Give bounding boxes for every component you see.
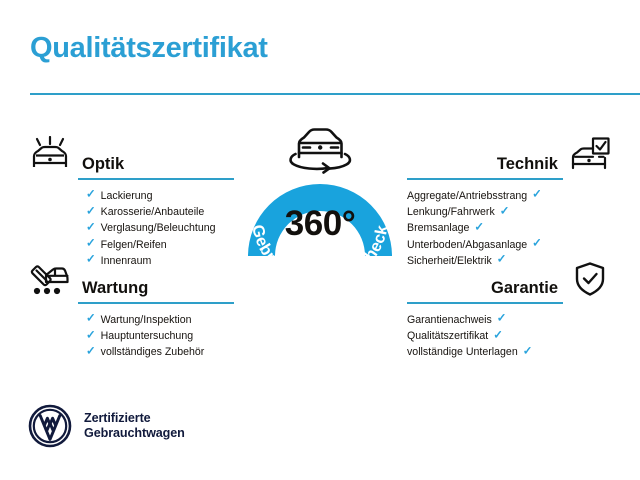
list-item: ✓ Wartung/Inspektion bbox=[86, 312, 233, 328]
check-icon: ✓ bbox=[86, 314, 96, 326]
list-item: ✓ Qualitätszertifikat bbox=[407, 328, 562, 344]
vw-logo-icon bbox=[28, 404, 72, 448]
section-wartung-title: Wartung bbox=[82, 280, 148, 299]
list-item-label: Hauptuntersuchung bbox=[101, 328, 193, 344]
check-icon: ✓ bbox=[86, 190, 96, 202]
check-icon: ✓ bbox=[474, 222, 484, 234]
list-item: ✓ vollständige Unterlagen bbox=[407, 344, 562, 360]
section-optik: Optik ✓ Lackierung ✓ Karosserie/Anbautei… bbox=[28, 134, 233, 269]
section-garantie-title: Garantie bbox=[491, 280, 558, 299]
section-wartung-list: ✓ Wartung/Inspektion ✓ Hauptuntersuchung… bbox=[86, 312, 233, 361]
section-technik-divider bbox=[407, 178, 563, 180]
list-item-label: Garantienachweis bbox=[407, 312, 492, 328]
section-technik: Technik bbox=[407, 134, 612, 269]
check-icon: ✓ bbox=[493, 330, 503, 342]
footer-text: Zertifizierte Gebrauchtwagen bbox=[84, 411, 185, 442]
footer-line1: Zertifizierte bbox=[84, 411, 151, 425]
check-icon: ✓ bbox=[497, 314, 507, 326]
list-item-label: Lenkung/Fahrwerk bbox=[407, 204, 495, 220]
list-item: ✓ Lenkung/Fahrwerk bbox=[407, 204, 562, 220]
list-item: ✓ Aggregate/Antriebsstrang bbox=[407, 188, 562, 204]
badge-360-gebrauchtwagen-check: Gebrauchtwagen-Check 360° bbox=[226, 116, 414, 316]
list-item-label: vollständiges Zubehör bbox=[101, 344, 205, 360]
check-icon: ✓ bbox=[86, 222, 96, 234]
section-optik-header: Optik bbox=[28, 134, 233, 174]
list-item: ✓ Lackierung bbox=[86, 188, 233, 204]
list-item-label: Bremsanlage bbox=[407, 220, 469, 236]
check-icon: ✓ bbox=[532, 190, 542, 202]
header-divider bbox=[30, 93, 640, 95]
footer-line2: Gebrauchtwagen bbox=[84, 426, 185, 440]
car-wrench-icon bbox=[28, 260, 72, 298]
list-item: ✓ Garantienachweis bbox=[407, 312, 562, 328]
section-technik-header: Technik bbox=[407, 134, 612, 174]
section-garantie-list: ✓ Garantienachweis ✓ Qualitätszertifikat… bbox=[407, 312, 562, 361]
list-item-label: Lackierung bbox=[101, 188, 153, 204]
check-icon: ✓ bbox=[532, 238, 542, 250]
check-icon: ✓ bbox=[86, 206, 96, 218]
section-optik-divider bbox=[78, 178, 234, 180]
section-wartung-header: Wartung bbox=[28, 258, 233, 298]
list-item: ✓ vollständiges Zubehör bbox=[86, 344, 233, 360]
page-title: Qualitätszertifikat bbox=[30, 32, 268, 65]
section-optik-list: ✓ Lackierung ✓ Karosserie/Anbauteile ✓ V… bbox=[86, 188, 233, 269]
list-item: ✓ Unterboden/Abgasanlage bbox=[407, 237, 562, 253]
list-item-label: vollständige Unterlagen bbox=[407, 344, 518, 360]
badge-center-label: 360° bbox=[226, 204, 414, 244]
list-item-label: Verglasung/Beleuchtung bbox=[101, 220, 216, 236]
check-icon: ✓ bbox=[523, 346, 533, 358]
check-icon: ✓ bbox=[86, 346, 96, 358]
list-item: ✓ Bremsanlage bbox=[407, 220, 562, 236]
list-item-label: Aggregate/Antriebsstrang bbox=[407, 188, 527, 204]
section-garantie-header: Garantie bbox=[407, 258, 612, 298]
check-icon: ✓ bbox=[86, 238, 96, 250]
section-garantie-divider bbox=[407, 302, 563, 304]
section-wartung-divider bbox=[78, 302, 234, 304]
list-item-label: Unterboden/Abgasanlage bbox=[407, 237, 527, 253]
section-technik-list: ✓ Aggregate/Antriebsstrang ✓ Lenkung/Fah… bbox=[407, 188, 562, 269]
list-item: ✓ Hauptuntersuchung bbox=[86, 328, 233, 344]
list-item-label: Qualitätszertifikat bbox=[407, 328, 488, 344]
list-item: ✓ Karosserie/Anbauteile bbox=[86, 204, 233, 220]
shield-check-icon bbox=[568, 260, 612, 298]
list-item-label: Felgen/Reifen bbox=[101, 237, 167, 253]
list-item-label: Wartung/Inspektion bbox=[101, 312, 192, 328]
check-icon: ✓ bbox=[86, 330, 96, 342]
list-item-label: Karosserie/Anbauteile bbox=[101, 204, 205, 220]
certificate-page: Qualitätszertifikat bbox=[0, 0, 640, 480]
car-shine-icon bbox=[28, 136, 72, 174]
list-item: ✓ Verglasung/Beleuchtung bbox=[86, 220, 233, 236]
car-checkbox-icon bbox=[568, 136, 612, 174]
footer-brand: Zertifizierte Gebrauchtwagen bbox=[28, 404, 185, 448]
list-item: ✓ Felgen/Reifen bbox=[86, 237, 233, 253]
section-technik-title: Technik bbox=[497, 156, 558, 175]
section-wartung: Wartung ✓ Wartung/Inspektion ✓ Hauptunte… bbox=[28, 258, 233, 361]
section-garantie: Garantie ✓ Garantienachweis ✓ Qualitätsz… bbox=[407, 258, 612, 361]
section-optik-title: Optik bbox=[82, 156, 124, 175]
check-icon: ✓ bbox=[500, 206, 510, 218]
